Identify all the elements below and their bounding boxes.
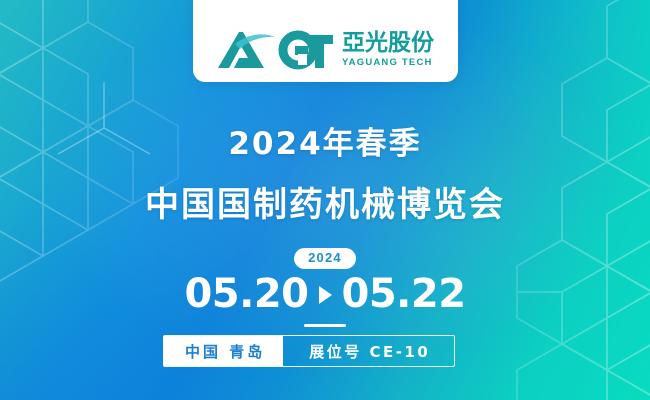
year-badge: 2024 [294, 248, 356, 269]
logo-lockup: 亞光股份 YAGUANG TECH [217, 30, 434, 70]
venue-info-bar: 中国 青岛 展位号 CE-10 [163, 335, 455, 367]
location-label: 中国 青岛 [164, 336, 283, 366]
company-name-en: YAGUANG TECH [342, 58, 433, 68]
logo-text-block: 亞光股份 YAGUANG TECH [342, 32, 434, 68]
company-name-cn: 亞光股份 [342, 32, 434, 55]
exhibition-banner: 亞光股份 YAGUANG TECH 2024年春季 中国国制药机械博览会 202… [0, 0, 650, 400]
date-range: 05.20 05.22 [0, 274, 650, 314]
date-divider-rule [304, 324, 346, 327]
agt-swoosh-logomark [217, 30, 333, 70]
date-block: 2024 05.20 05.22 [0, 248, 650, 327]
title-block: 2024年春季 中国国制药机械博览会 [0, 118, 650, 226]
event-main-title: 中国国制药机械博览会 [0, 177, 650, 226]
date-start: 05.20 [184, 274, 308, 314]
date-end: 05.22 [342, 274, 466, 314]
logo-card: 亞光股份 YAGUANG TECH [193, 0, 458, 82]
event-season-title: 2024年春季 [0, 118, 650, 163]
booth-number-label: 展位号 CE-10 [283, 336, 454, 366]
play-triangle-icon [319, 286, 332, 304]
